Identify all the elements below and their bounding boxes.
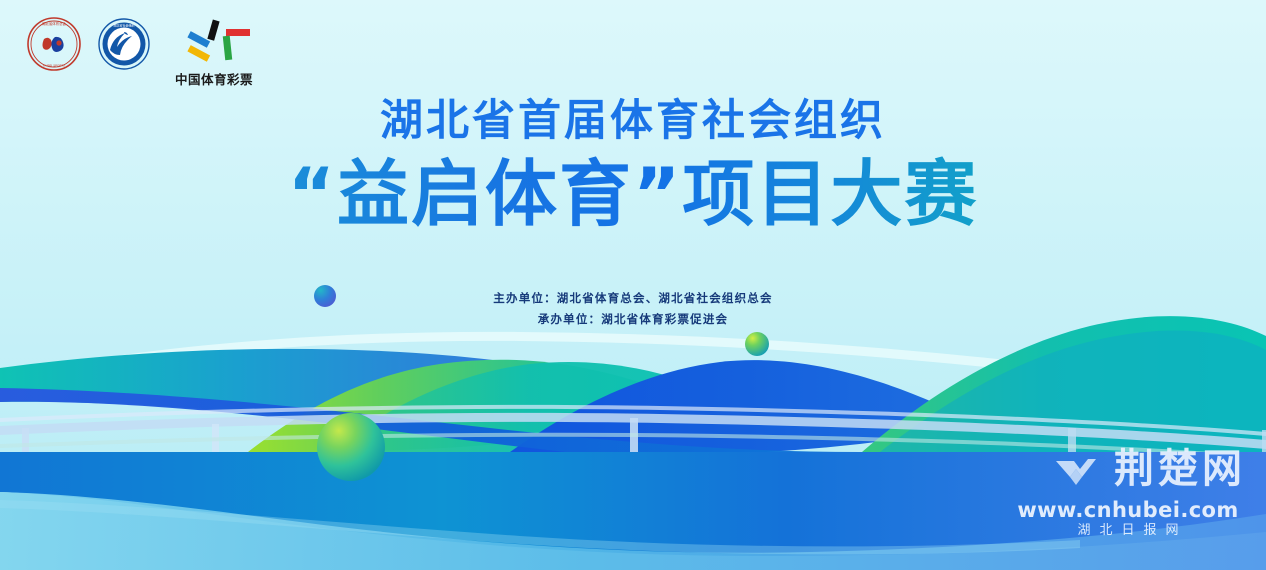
- cnhubei-arrow-logo-icon: [1054, 451, 1106, 487]
- organizer-block: 主办单位：湖北省体育总会、湖北省社会组织总会 承办单位：湖北省体育彩票促进会: [0, 288, 1266, 330]
- china-sports-lottery-label: 中国体育彩票: [166, 69, 262, 88]
- cnhubei-brand-cn: 荆楚网: [1114, 447, 1246, 491]
- gradient-sphere-medium: [745, 332, 769, 356]
- banner-canvas: 湖北省体育总会 HUBEI SPORTS 湖北省社会组织: [0, 0, 1266, 570]
- logo-group: 湖北省体育总会 HUBEI SPORTS 湖北省社会组织: [26, 16, 262, 88]
- cnhubei-url: www.cnhubei.com: [1010, 498, 1246, 522]
- host-line: 承办单位：湖北省体育彩票促进会: [0, 309, 1266, 330]
- hubei-social-organization-emblem-icon: 湖北省社会组织: [98, 18, 150, 70]
- hubei-sports-federation-seal-icon: 湖北省体育总会 HUBEI SPORTS: [26, 16, 82, 72]
- svg-text:湖北省体育总会: 湖北省体育总会: [42, 21, 66, 26]
- china-sports-lottery-logo: 中国体育彩票: [166, 16, 262, 88]
- svg-text:湖北省社会组织: 湖北省社会组织: [113, 23, 134, 28]
- gradient-sphere-large: [317, 413, 385, 481]
- cnhubei-watermark: 荆楚网 www.cnhubei.com 湖北日报网: [1010, 440, 1246, 548]
- cnhubei-subtitle: 湖北日报网: [1010, 522, 1246, 540]
- svg-text:HUBEI SPORTS: HUBEI SPORTS: [43, 64, 65, 68]
- organizer-line: 主办单位：湖北省体育总会、湖北省社会组织总会: [0, 288, 1266, 309]
